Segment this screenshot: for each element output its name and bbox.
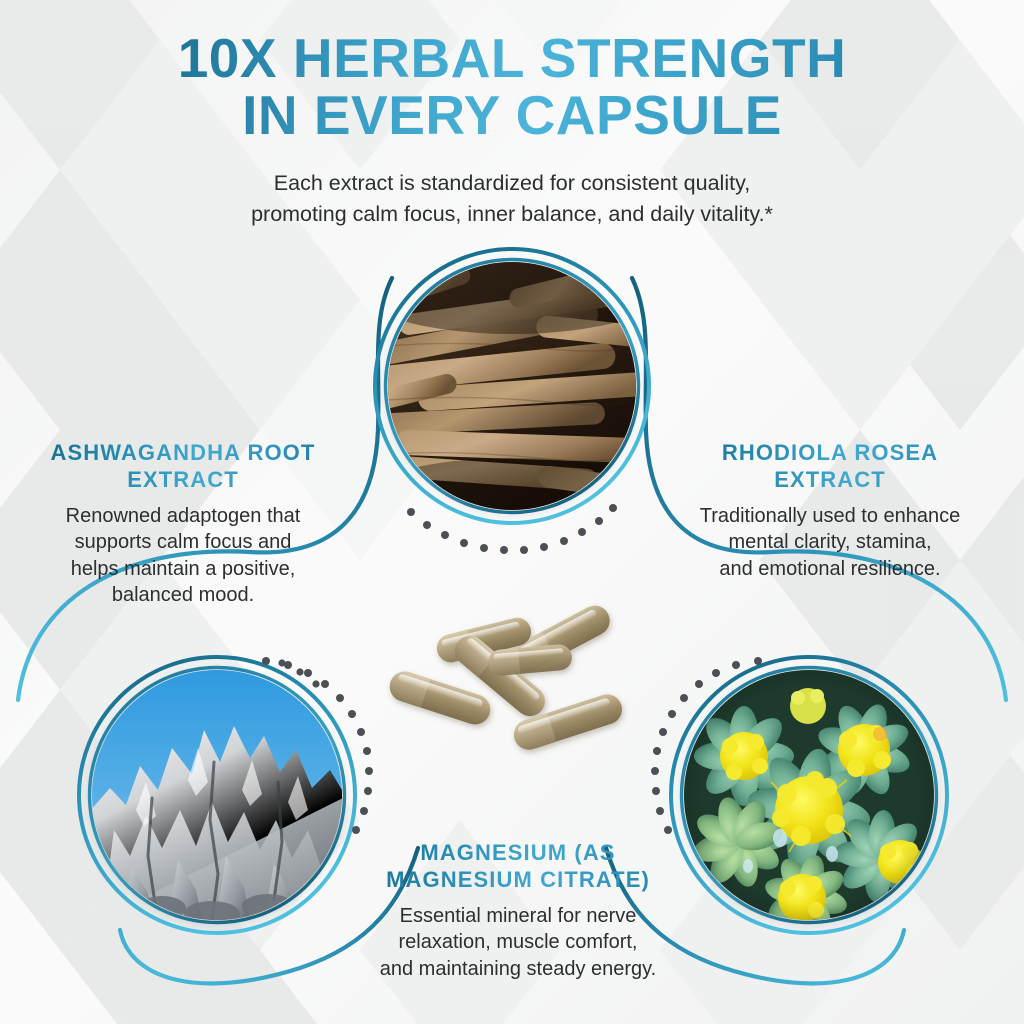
magnesium-body-line-2: relaxation, muscle comfort,	[318, 929, 718, 956]
ashwagandha-title-line-2: Extract	[127, 467, 239, 492]
magnesium-body-line-3: and maintaining steady energy.	[318, 956, 718, 983]
ingredient-body-ashwagandha: Renowned adaptogen that supports calm fo…	[8, 503, 358, 609]
rhodiola-body-line-3: and emotional resilience.	[640, 556, 1020, 583]
herbal-capsules-photo	[372, 594, 644, 770]
rhodiola-title-line-1: Rhodiola Rosea	[722, 440, 938, 465]
ashwagandha-body-line-2: supports calm focus and	[8, 529, 358, 556]
rhodiola-flowers-photo	[684, 670, 934, 920]
magnesium-title-line-1: Magnesium (as	[420, 840, 615, 865]
magnesium-body-line-1: Essential mineral for nerve	[318, 903, 718, 930]
rhodiola-title-line-2: Extract	[774, 467, 886, 492]
ingredient-title-ashwagandha: Ashwagandha Root Extract	[8, 440, 358, 494]
ingredient-title-magnesium: Magnesium (as Magnesium Citrate)	[318, 840, 718, 894]
ashwagandha-roots-photo	[388, 262, 636, 510]
rhodiola-body-line-1: Traditionally used to enhance	[640, 503, 1020, 530]
page-title: 10X Herbal Strength In Every Capsule	[0, 30, 1024, 143]
rhodiola-body-line-2: mental clarity, stamina,	[640, 529, 1020, 556]
ashwagandha-body-line-3: helps maintain a positive,	[8, 556, 358, 583]
ingredient-body-rhodiola: Traditionally used to enhance mental cla…	[640, 503, 1020, 583]
subtitle-line-1: Each extract is standardized for consist…	[0, 168, 1024, 199]
ingredient-block-ashwagandha: Ashwagandha Root Extract Renowned adapto…	[8, 440, 358, 609]
ingredient-block-rhodiola: Rhodiola Rosea Extract Traditionally use…	[640, 440, 1020, 582]
ashwagandha-title-line-1: Ashwagandha Root	[51, 440, 316, 465]
ingredient-body-magnesium: Essential mineral for nerve relaxation, …	[318, 903, 718, 983]
subtitle: Each extract is standardized for consist…	[0, 168, 1024, 230]
ashwagandha-body-line-1: Renowned adaptogen that	[8, 503, 358, 530]
headline-line-1: 10X Herbal Strength	[178, 27, 847, 89]
magnesium-crystals-photo	[92, 670, 342, 920]
ingredient-title-rhodiola: Rhodiola Rosea Extract	[640, 440, 1020, 494]
magnesium-title-line-2: Magnesium Citrate)	[386, 867, 650, 892]
subtitle-line-2: promoting calm focus, inner balance, and…	[0, 199, 1024, 230]
ingredient-block-magnesium: Magnesium (as Magnesium Citrate) Essenti…	[318, 840, 718, 982]
headline-line-2: In Every Capsule	[0, 87, 1024, 144]
headline-block: 10X Herbal Strength In Every Capsule	[0, 30, 1024, 143]
ashwagandha-body-line-4: balanced mood.	[8, 582, 358, 609]
